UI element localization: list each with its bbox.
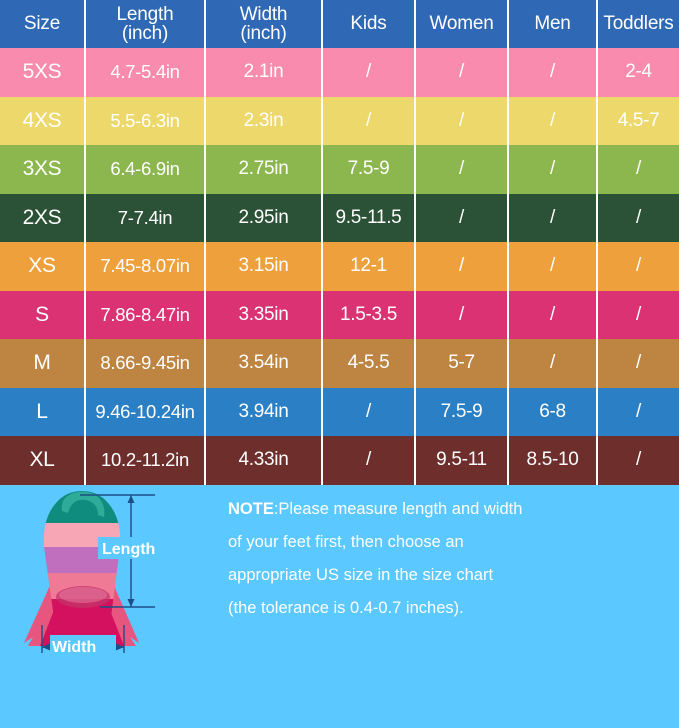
cell-women: 5-7 xyxy=(415,339,508,388)
table-row: XL 10.2-11.2in 4.33in / 9.5-11 8.5-10 / xyxy=(0,436,679,485)
fin-foot-opening-inner xyxy=(59,587,107,603)
column-header-toddlers-label: Toddlers xyxy=(603,13,673,34)
cell-kids: 12-1 xyxy=(322,242,415,291)
column-header-size: Size xyxy=(0,0,85,48)
cell-men: / xyxy=(508,291,597,340)
cell-width: 3.15in xyxy=(205,242,322,291)
cell-men: / xyxy=(508,145,597,194)
table-row: 5XS 4.7-5.4in 2.1in / / / 2-4 xyxy=(0,48,679,97)
table-row: S 7.86-8.47in 3.35in 1.5-3.5 / / / xyxy=(0,291,679,340)
column-header-women-label: Women xyxy=(429,13,493,34)
table-row: L 9.46-10.24in 3.94in / 7.5-9 6-8 / xyxy=(0,388,679,437)
cell-men: / xyxy=(508,242,597,291)
cell-toddlers: / xyxy=(597,388,679,437)
cell-length: 8.66-9.45in xyxy=(85,339,205,388)
cell-women: / xyxy=(415,97,508,146)
cell-men: 8.5-10 xyxy=(508,436,597,485)
cell-length: 5.5-6.3in xyxy=(85,97,205,146)
cell-length: 4.7-5.4in xyxy=(85,48,205,97)
column-header-width-unit: (inch) xyxy=(206,24,321,43)
cell-size: XS xyxy=(0,242,85,291)
cell-size: 3XS xyxy=(0,145,85,194)
cell-width: 2.75in xyxy=(205,145,322,194)
cell-kids: / xyxy=(322,388,415,437)
cell-size: XL xyxy=(0,436,85,485)
size-chart-table: Size Length (inch) Width (inch) Kids Wom… xyxy=(0,0,679,485)
column-header-length-unit: (inch) xyxy=(86,24,204,43)
width-label: Width xyxy=(52,639,96,656)
length-arrow-down-icon xyxy=(128,599,135,607)
size-chart-page: Size Length (inch) Width (inch) Kids Wom… xyxy=(0,0,679,679)
table-row: M 8.66-9.45in 3.54in 4-5.5 5-7 / / xyxy=(0,339,679,388)
cell-length: 9.46-10.24in xyxy=(85,388,205,437)
column-header-kids-label: Kids xyxy=(350,13,386,34)
cell-kids: / xyxy=(322,48,415,97)
cell-kids: 7.5-9 xyxy=(322,145,415,194)
cell-size: L xyxy=(0,388,85,437)
cell-women: / xyxy=(415,291,508,340)
cell-toddlers: 4.5-7 xyxy=(597,97,679,146)
column-header-toddlers: Toddlers xyxy=(597,0,679,48)
table-body: 5XS 4.7-5.4in 2.1in / / / 2-4 4XS 5.5-6.… xyxy=(0,48,679,485)
cell-length: 7-7.4in xyxy=(85,194,205,243)
table-row: 2XS 7-7.4in 2.95in 9.5-11.5 / / / xyxy=(0,194,679,243)
cell-women: 9.5-11 xyxy=(415,436,508,485)
cell-women: / xyxy=(415,242,508,291)
table-header: Size Length (inch) Width (inch) Kids Wom… xyxy=(0,0,679,48)
note-text-block: NOTE:Please measure length and width of … xyxy=(228,493,668,625)
cell-women: / xyxy=(415,194,508,243)
length-label: Length xyxy=(102,541,155,558)
cell-kids: 4-5.5 xyxy=(322,339,415,388)
note-line: (the tolerance is 0.4-0.7 inches). xyxy=(228,592,668,625)
column-header-width-label: Width xyxy=(240,4,288,25)
column-header-width: Width (inch) xyxy=(205,0,322,48)
cell-width: 4.33in xyxy=(205,436,322,485)
note-line-text: :Please measure length and width xyxy=(274,500,523,518)
note-line: NOTE:Please measure length and width xyxy=(228,493,668,526)
swim-fin-diagram: Length Width xyxy=(0,485,212,659)
cell-kids: 1.5-3.5 xyxy=(322,291,415,340)
cell-men: 6-8 xyxy=(508,388,597,437)
fin-band-tip xyxy=(30,485,140,525)
note-line: of your feet first, then choose an xyxy=(228,526,668,559)
cell-size: 2XS xyxy=(0,194,85,243)
column-header-women: Women xyxy=(415,0,508,48)
cell-width: 2.1in xyxy=(205,48,322,97)
note-label: NOTE xyxy=(228,500,274,518)
cell-toddlers: / xyxy=(597,291,679,340)
cell-men: / xyxy=(508,97,597,146)
cell-kids: / xyxy=(322,436,415,485)
cell-men: / xyxy=(508,339,597,388)
note-line: appropriate US size in the size chart xyxy=(228,559,668,592)
cell-men: / xyxy=(508,194,597,243)
cell-width: 2.3in xyxy=(205,97,322,146)
cell-width: 3.94in xyxy=(205,388,322,437)
cell-women: / xyxy=(415,48,508,97)
cell-toddlers: / xyxy=(597,194,679,243)
table-row: 4XS 5.5-6.3in 2.3in / / / 4.5-7 xyxy=(0,97,679,146)
cell-toddlers: / xyxy=(597,242,679,291)
cell-width: 2.95in xyxy=(205,194,322,243)
footer-note-panel: Length Width NOTE:Please measure length … xyxy=(0,485,679,728)
cell-toddlers: / xyxy=(597,339,679,388)
length-arrow-up-icon xyxy=(128,495,135,503)
header-row: Size Length (inch) Width (inch) Kids Wom… xyxy=(0,0,679,48)
cell-women: / xyxy=(415,145,508,194)
cell-length: 7.45-8.07in xyxy=(85,242,205,291)
cell-toddlers: 2-4 xyxy=(597,48,679,97)
column-header-men: Men xyxy=(508,0,597,48)
column-header-kids: Kids xyxy=(322,0,415,48)
cell-width: 3.54in xyxy=(205,339,322,388)
cell-length: 6.4-6.9in xyxy=(85,145,205,194)
table-row: 3XS 6.4-6.9in 2.75in 7.5-9 / / / xyxy=(0,145,679,194)
cell-men: / xyxy=(508,48,597,97)
column-header-size-label: Size xyxy=(24,13,60,34)
cell-kids: / xyxy=(322,97,415,146)
cell-size: 4XS xyxy=(0,97,85,146)
column-header-length-label: Length xyxy=(117,4,174,25)
cell-width: 3.35in xyxy=(205,291,322,340)
column-header-length: Length (inch) xyxy=(85,0,205,48)
table-row: XS 7.45-8.07in 3.15in 12-1 / / / xyxy=(0,242,679,291)
column-header-men-label: Men xyxy=(534,13,570,34)
cell-size: 5XS xyxy=(0,48,85,97)
cell-size: M xyxy=(0,339,85,388)
cell-toddlers: / xyxy=(597,145,679,194)
cell-toddlers: / xyxy=(597,436,679,485)
cell-women: 7.5-9 xyxy=(415,388,508,437)
cell-length: 7.86-8.47in xyxy=(85,291,205,340)
cell-kids: 9.5-11.5 xyxy=(322,194,415,243)
cell-size: S xyxy=(0,291,85,340)
cell-length: 10.2-11.2in xyxy=(85,436,205,485)
